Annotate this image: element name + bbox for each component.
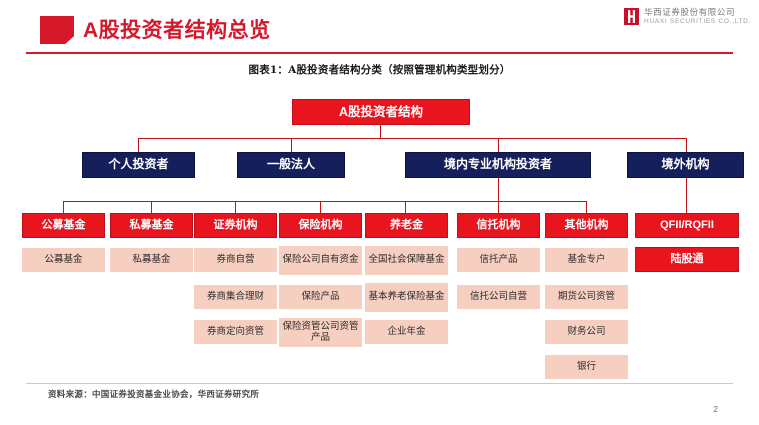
huaxi-h-logo-icon — [624, 8, 639, 25]
diagram-leaf-5-0[interactable]: 信托产品 — [457, 248, 540, 272]
connector-level2-bus — [138, 138, 686, 139]
diagram-node-root[interactable]: A股投资者结构 — [292, 99, 470, 125]
footer-divider — [26, 383, 733, 384]
diagram-leaf-3-0[interactable]: 保险公司自有资金 — [279, 246, 362, 275]
diagram-leaf-2-2[interactable]: 券商定向资管 — [194, 320, 277, 344]
title-mark-icon — [40, 16, 74, 44]
connector-level2-drop-2 — [498, 138, 499, 152]
diagram-leaf-1-0[interactable]: 私募基金 — [110, 248, 193, 272]
header-divider — [26, 52, 733, 54]
diagram-leaf-6-3[interactable]: 银行 — [545, 355, 628, 379]
diagram-node-cat-6[interactable]: 其他机构 — [545, 213, 628, 238]
connector-domestic-stem — [498, 178, 499, 202]
diagram-node-cat-0[interactable]: 公募基金 — [22, 213, 105, 238]
diagram-node-cat-4[interactable]: 养老金 — [365, 213, 448, 238]
page-header: A股投资者结构总览 华西证券股份有限公司 HUAXI SECURITIES CO… — [0, 0, 759, 52]
diagram-node-level2-2[interactable]: 境内专业机构投资者 — [405, 152, 591, 178]
diagram-node-cat-7[interactable]: QFII/RQFII — [635, 213, 739, 238]
connector-overseas-stem — [686, 178, 687, 214]
diagram-leaf-6-2[interactable]: 财务公司 — [545, 320, 628, 344]
connector-level2-drop-1 — [291, 138, 292, 152]
brand-logo: 华西证券股份有限公司 HUAXI SECURITIES CO.,LTD. — [624, 8, 751, 25]
diagram-leaf-3-1[interactable]: 保险产品 — [279, 285, 362, 309]
figure-caption: 图表1：A股投资者结构分类（按照管理机构类型划分） — [0, 62, 759, 77]
diagram-leaf-5-1[interactable]: 信托公司自营 — [457, 285, 540, 309]
diagram-leaf-2-1[interactable]: 券商集合理财 — [194, 285, 277, 309]
page-number: 2 — [713, 404, 718, 414]
diagram-leaf-4-1[interactable]: 基本养老保险基金 — [365, 283, 448, 312]
diagram-node-cat-2[interactable]: 证券机构 — [194, 213, 277, 238]
connector-root-stem — [380, 125, 381, 139]
brand-name-cn: 华西证券股份有限公司 — [644, 8, 751, 18]
diagram-node-level2-0[interactable]: 个人投资者 — [82, 152, 195, 178]
diagram-leaf-0-0[interactable]: 公募基金 — [22, 248, 105, 272]
diagram-leaf-6-0[interactable]: 基金专户 — [545, 248, 628, 272]
diagram-leaf-7-0[interactable]: 陆股通 — [635, 247, 739, 272]
diagram-leaf-6-1[interactable]: 期货公司资管 — [545, 285, 628, 309]
diagram-node-level2-1[interactable]: 一般法人 — [237, 152, 345, 178]
page-title: A股投资者结构总览 — [83, 14, 271, 44]
source-note: 资料来源：中国证券投资基金业协会，华西证券研究所 — [48, 388, 259, 400]
diagram-node-cat-1[interactable]: 私募基金 — [110, 213, 193, 238]
diagram-node-cat-5[interactable]: 信托机构 — [457, 213, 540, 238]
diagram-node-cat-3[interactable]: 保险机构 — [279, 213, 362, 238]
diagram-node-level2-3[interactable]: 境外机构 — [627, 152, 744, 178]
diagram-leaf-4-0[interactable]: 全国社会保障基金 — [365, 246, 448, 275]
diagram-leaf-3-2[interactable]: 保险资管公司资管产品 — [279, 318, 362, 347]
diagram-leaf-2-0[interactable]: 券商自营 — [194, 248, 277, 272]
connector-level2-drop-0 — [138, 138, 139, 152]
diagram-leaf-4-2[interactable]: 企业年金 — [365, 320, 448, 344]
brand-name-en: HUAXI SECURITIES CO.,LTD. — [644, 18, 751, 25]
connector-level2-drop-3 — [686, 138, 687, 152]
connector-level3-bus — [63, 201, 586, 202]
